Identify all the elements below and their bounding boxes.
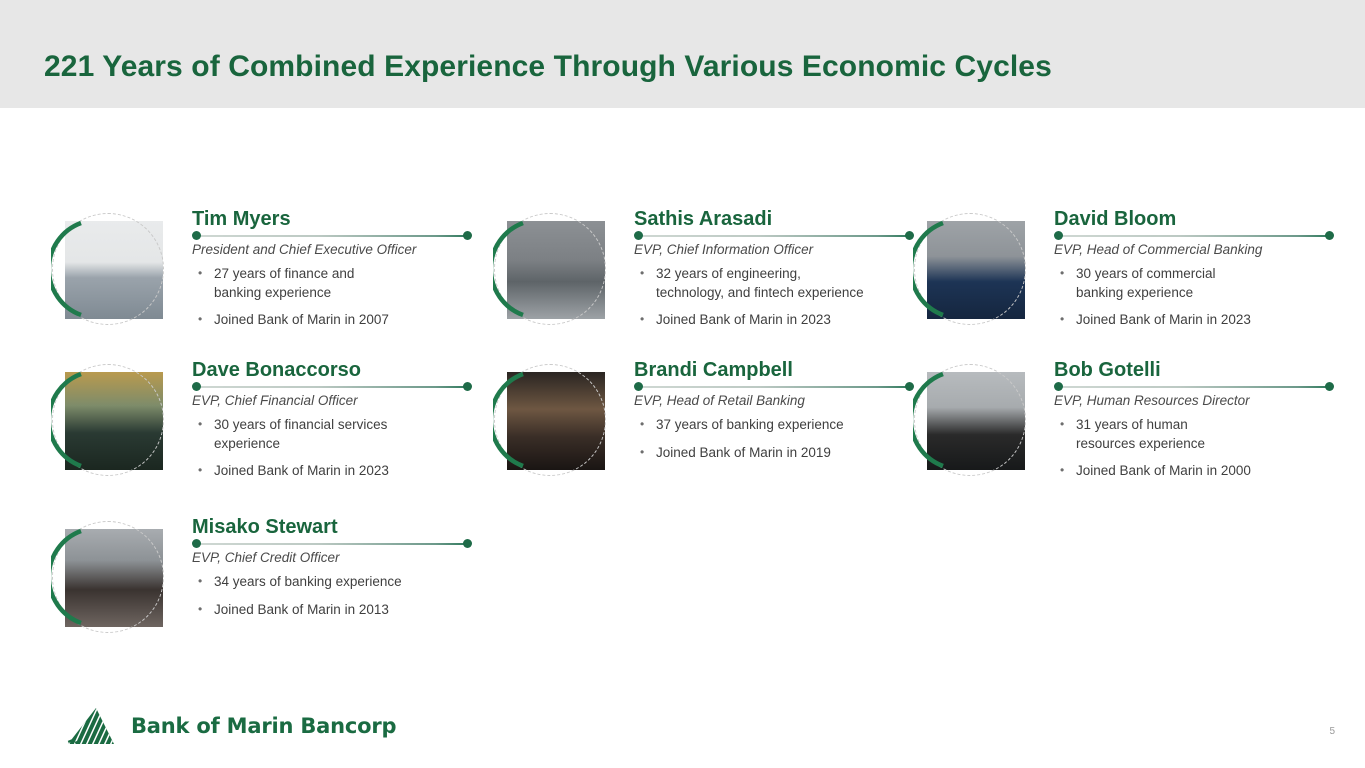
person-card: David BloomEVP, Head of Commercial Banki… bbox=[902, 207, 1332, 357]
company-logo: Bank of Marin Bancorp bbox=[66, 706, 396, 746]
avatar bbox=[52, 521, 164, 633]
person-card: Misako StewartEVP, Chief Credit Officer3… bbox=[40, 515, 470, 665]
person-name: Brandi Campbell bbox=[634, 358, 914, 382]
connector-line bbox=[638, 235, 910, 237]
person-card: Sathis ArasadiEVP, Chief Information Off… bbox=[482, 207, 912, 357]
avatar-green-arc bbox=[913, 212, 1027, 326]
person-details: Brandi CampbellEVP, Head of Retail Banki… bbox=[634, 358, 914, 462]
connector-line bbox=[638, 386, 910, 388]
connector-line bbox=[1058, 386, 1330, 388]
person-bullet: 30 years of commercialbanking experience bbox=[1054, 265, 1334, 302]
avatar bbox=[494, 213, 606, 325]
person-name: Dave Bonaccorso bbox=[192, 358, 472, 382]
leadership-team-grid: Tim MyersPresident and Chief Executive O… bbox=[0, 108, 1365, 668]
avatar-green-arc bbox=[51, 212, 165, 326]
person-bullet: 30 years of financial servicesexperience bbox=[192, 416, 472, 453]
person-role: EVP, Chief Credit Officer bbox=[192, 549, 472, 566]
connector-line bbox=[1058, 235, 1330, 237]
connector-rule bbox=[1054, 382, 1334, 391]
person-bullet-list: 34 years of banking experienceJoined Ban… bbox=[192, 573, 472, 619]
connector-dot-right bbox=[463, 382, 472, 391]
person-details: Dave BonaccorsoEVP, Chief Financial Offi… bbox=[192, 358, 472, 481]
person-role: EVP, Chief Information Officer bbox=[634, 241, 914, 258]
person-role: EVP, Chief Financial Officer bbox=[192, 392, 472, 409]
connector-dot-left bbox=[192, 382, 201, 391]
person-bullet-list: 30 years of financial servicesexperience… bbox=[192, 416, 472, 481]
avatar bbox=[914, 213, 1026, 325]
person-bullet-list: 37 years of banking experienceJoined Ban… bbox=[634, 416, 914, 462]
avatar-green-arc bbox=[493, 363, 607, 477]
connector-rule bbox=[192, 231, 472, 240]
logo-wordmark: Bank of Marin Bancorp bbox=[131, 714, 396, 738]
person-name: David Bloom bbox=[1054, 207, 1334, 231]
person-bullet: Joined Bank of Marin in 2007 bbox=[192, 311, 472, 330]
avatar bbox=[52, 213, 164, 325]
person-bullet: Joined Bank of Marin in 2013 bbox=[192, 601, 472, 620]
mountain-logo-icon bbox=[66, 706, 122, 746]
person-role: EVP, Head of Retail Banking bbox=[634, 392, 914, 409]
connector-dot-right bbox=[463, 539, 472, 548]
person-bullet: 27 years of finance andbanking experienc… bbox=[192, 265, 472, 302]
avatar bbox=[494, 364, 606, 476]
person-bullet-list: 32 years of engineering,technology, and … bbox=[634, 265, 914, 330]
person-role: President and Chief Executive Officer bbox=[192, 241, 472, 258]
person-bullet: 32 years of engineering,technology, and … bbox=[634, 265, 914, 302]
person-details: David BloomEVP, Head of Commercial Banki… bbox=[1054, 207, 1334, 330]
connector-rule bbox=[192, 382, 472, 391]
person-bullet: 31 years of humanresources experience bbox=[1054, 416, 1334, 453]
connector-rule bbox=[634, 382, 914, 391]
person-card: Bob GotelliEVP, Human Resources Director… bbox=[902, 358, 1332, 508]
connector-rule bbox=[1054, 231, 1334, 240]
person-bullet: 37 years of banking experience bbox=[634, 416, 914, 435]
connector-dot-right bbox=[1325, 382, 1334, 391]
person-role: EVP, Human Resources Director bbox=[1054, 392, 1334, 409]
person-name: Sathis Arasadi bbox=[634, 207, 914, 231]
person-details: Misako StewartEVP, Chief Credit Officer3… bbox=[192, 515, 472, 619]
person-card: Dave BonaccorsoEVP, Chief Financial Offi… bbox=[40, 358, 470, 508]
person-details: Sathis ArasadiEVP, Chief Information Off… bbox=[634, 207, 914, 330]
person-bullet: Joined Bank of Marin in 2023 bbox=[634, 311, 914, 330]
connector-rule bbox=[634, 231, 914, 240]
connector-line bbox=[196, 235, 468, 237]
person-role: EVP, Head of Commercial Banking bbox=[1054, 241, 1334, 258]
connector-dot-right bbox=[463, 231, 472, 240]
avatar bbox=[914, 364, 1026, 476]
person-details: Bob GotelliEVP, Human Resources Director… bbox=[1054, 358, 1334, 481]
page-number: 5 bbox=[1329, 726, 1335, 737]
person-name: Misako Stewart bbox=[192, 515, 472, 539]
connector-line bbox=[196, 543, 468, 545]
person-bullet: 34 years of banking experience bbox=[192, 573, 472, 592]
person-bullet-list: 31 years of humanresources experienceJoi… bbox=[1054, 416, 1334, 481]
person-details: Tim MyersPresident and Chief Executive O… bbox=[192, 207, 472, 330]
connector-dot-left bbox=[1054, 382, 1063, 391]
connector-line bbox=[196, 386, 468, 388]
avatar-green-arc bbox=[51, 363, 165, 477]
person-name: Bob Gotelli bbox=[1054, 358, 1334, 382]
connector-rule bbox=[192, 539, 472, 548]
connector-dot-left bbox=[634, 231, 643, 240]
person-bullet-list: 27 years of finance andbanking experienc… bbox=[192, 265, 472, 330]
avatar-green-arc bbox=[913, 363, 1027, 477]
connector-dot-left bbox=[1054, 231, 1063, 240]
person-name: Tim Myers bbox=[192, 207, 472, 231]
page-title: 221 Years of Combined Experience Through… bbox=[44, 50, 1052, 84]
person-card: Tim MyersPresident and Chief Executive O… bbox=[40, 207, 470, 357]
avatar bbox=[52, 364, 164, 476]
avatar-green-arc bbox=[51, 520, 165, 634]
person-card: Brandi CampbellEVP, Head of Retail Banki… bbox=[482, 358, 912, 508]
person-bullet: Joined Bank of Marin in 2023 bbox=[1054, 311, 1334, 330]
person-bullet: Joined Bank of Marin in 2000 bbox=[1054, 462, 1334, 481]
person-bullet-list: 30 years of commercialbanking experience… bbox=[1054, 265, 1334, 330]
connector-dot-left bbox=[634, 382, 643, 391]
person-bullet: Joined Bank of Marin in 2023 bbox=[192, 462, 472, 481]
connector-dot-left bbox=[192, 539, 201, 548]
avatar-green-arc bbox=[493, 212, 607, 326]
connector-dot-left bbox=[192, 231, 201, 240]
person-bullet: Joined Bank of Marin in 2019 bbox=[634, 444, 914, 463]
connector-dot-right bbox=[1325, 231, 1334, 240]
